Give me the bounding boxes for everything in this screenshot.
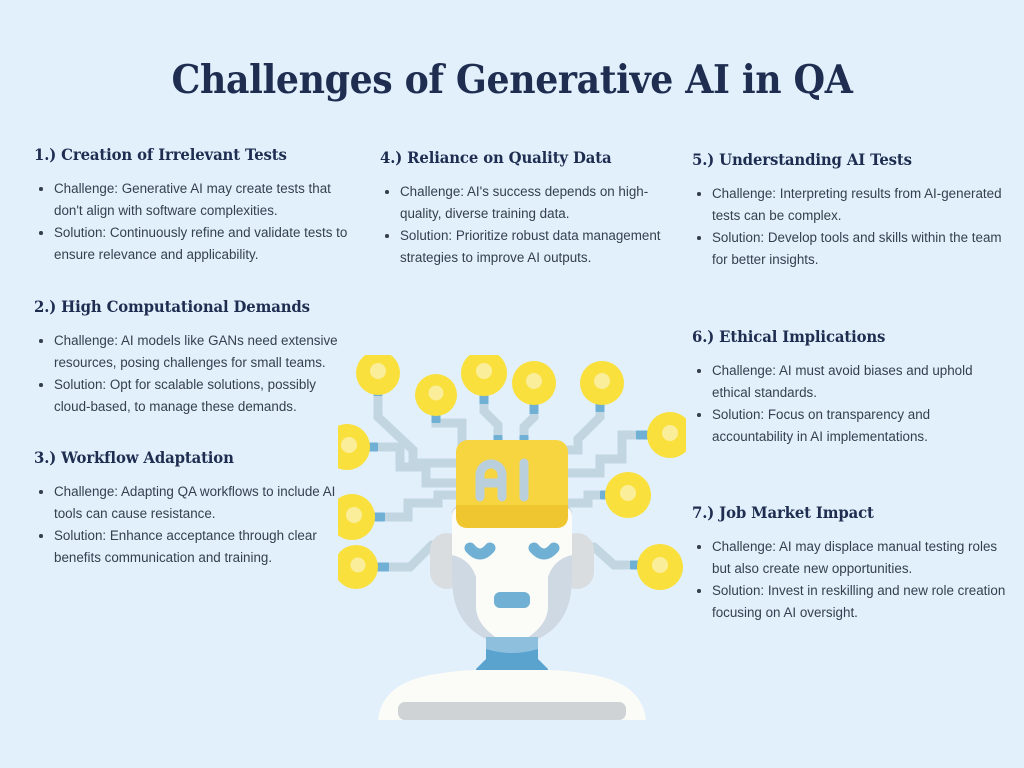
ai-chip xyxy=(456,440,568,528)
eye-right xyxy=(534,548,554,554)
section-heading: 6.) Ethical Implications xyxy=(692,327,997,346)
list-item: Challenge: AI models like GANs need exte… xyxy=(52,330,352,373)
page-title: Challenges of Generative AI in QA xyxy=(36,57,988,103)
mouth xyxy=(494,592,530,608)
section-heading: 3.) Workflow Adaptation xyxy=(34,448,339,467)
section-bullets: Challenge: Adapting QA workflows to incl… xyxy=(22,481,352,568)
list-item: Challenge: Interpreting results from AI-… xyxy=(710,183,1010,226)
lightbulb xyxy=(338,494,375,540)
section-bullets: Challenge: AI models like GANs need exte… xyxy=(22,330,352,417)
lightbulb xyxy=(512,361,556,405)
list-item: Challenge: AI may displace manual testin… xyxy=(710,536,1010,579)
section-bullets: Challenge: Interpreting results from AI-… xyxy=(680,183,1010,270)
section-heading: 1.) Creation of Irrelevant Tests xyxy=(34,145,339,164)
list-item: Solution: Enhance acceptance through cle… xyxy=(52,525,352,568)
section-6: 6.) Ethical Implications Challenge: AI m… xyxy=(680,327,1010,447)
lightbulb xyxy=(338,424,370,470)
section-heading: 2.) High Computational Demands xyxy=(34,297,339,316)
list-item: Solution: Continuously refine and valida… xyxy=(52,222,352,265)
column-right: 5.) Understanding AI Tests Challenge: In… xyxy=(680,150,1010,624)
chip-shadow xyxy=(456,505,568,528)
infographic-page: Challenges of Generative AI in QA 1.) Cr… xyxy=(0,0,1024,768)
list-item: Challenge: AI's success depends on high-… xyxy=(398,181,668,224)
section-heading: 7.) Job Market Impact xyxy=(692,503,997,522)
list-item: Solution: Invest in reskilling and new r… xyxy=(710,580,1010,623)
ai-robot-head-illustration xyxy=(338,355,686,720)
lightbulb xyxy=(338,545,378,589)
section-5: 5.) Understanding AI Tests Challenge: In… xyxy=(680,150,1010,270)
list-item: Solution: Opt for scalable solutions, po… xyxy=(52,374,352,417)
section-heading: 4.) Reliance on Quality Data xyxy=(380,148,656,167)
lightbulb xyxy=(647,412,686,458)
section-2: 2.) High Computational Demands Challenge… xyxy=(22,297,352,417)
section-1: 1.) Creation of Irrelevant Tests Challen… xyxy=(22,145,352,265)
list-item: Challenge: Adapting QA workflows to incl… xyxy=(52,481,352,524)
column-left: 1.) Creation of Irrelevant Tests Challen… xyxy=(22,145,352,569)
lightbulb xyxy=(415,374,457,416)
lightbulb xyxy=(605,472,651,518)
section-7: 7.) Job Market Impact Challenge: AI may … xyxy=(680,503,1010,623)
section-bullets: Challenge: AI must avoid biases and upho… xyxy=(680,360,1010,447)
list-item: Solution: Prioritize robust data managem… xyxy=(398,225,668,268)
section-4: 4.) Reliance on Quality Data Challenge: … xyxy=(368,148,668,268)
lightbulb xyxy=(356,355,400,395)
list-item: Solution: Develop tools and skills withi… xyxy=(710,227,1010,270)
lightbulb xyxy=(580,361,624,405)
neck-shadow xyxy=(486,637,538,653)
section-bullets: Challenge: Generative AI may create test… xyxy=(22,178,352,265)
section-bullets: Challenge: AI's success depends on high-… xyxy=(368,181,668,268)
list-item: Challenge: Generative AI may create test… xyxy=(52,178,352,221)
list-item: Solution: Focus on transparency and acco… xyxy=(710,404,1010,447)
section-bullets: Challenge: AI may displace manual testin… xyxy=(680,536,1010,623)
lightbulb xyxy=(586,447,594,455)
section-3: 3.) Workflow Adaptation Challenge: Adapt… xyxy=(22,448,352,568)
lightbulb xyxy=(461,355,507,396)
section-heading: 5.) Understanding AI Tests xyxy=(692,150,997,169)
list-item: Challenge: AI must avoid biases and upho… xyxy=(710,360,1010,403)
base-bar xyxy=(398,702,626,720)
eye-left xyxy=(470,548,490,554)
lightbulb xyxy=(637,544,683,590)
column-middle: 4.) Reliance on Quality Data Challenge: … xyxy=(368,148,668,269)
neck-and-shoulders xyxy=(378,637,646,720)
